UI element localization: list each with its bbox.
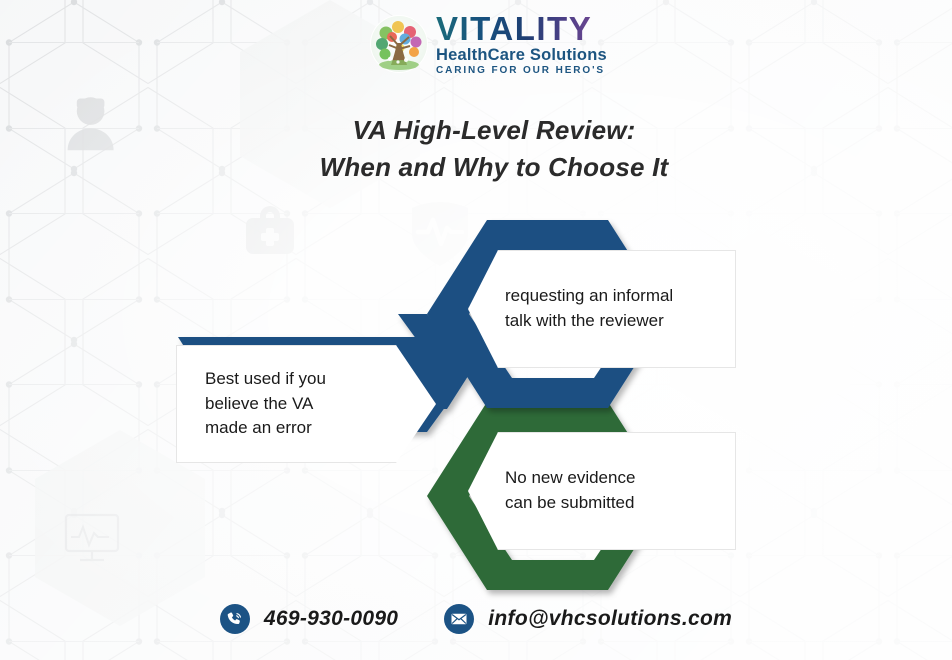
callout-left-line-1: Best used if you (205, 367, 326, 392)
callout-top-right: requesting an informal talk with the rev… (468, 250, 736, 368)
page-title: VA High-Level Review: When and Why to Ch… (0, 112, 952, 186)
infographic-canvas: VITALITY HealthCare Solutions CARING FOR… (0, 0, 952, 660)
heartbeat-icon (412, 202, 468, 266)
phone-icon (220, 604, 250, 634)
brand-tagline: HealthCare Solutions (436, 47, 607, 64)
callout-bottom-right-line-2: can be submitted (505, 491, 635, 516)
medical-bag-icon (246, 206, 294, 254)
brand-logo: VITALITY HealthCare Solutions CARING FOR… (370, 12, 607, 76)
footer-contact-bar: 469-930-0090 info@vhcsolutions.com (0, 604, 952, 634)
contact-phone[interactable]: 469-930-0090 (220, 604, 398, 634)
callout-bottom-right-line-1: No new evidence (505, 466, 635, 491)
brand-text: VITALITY HealthCare Solutions CARING FOR… (436, 12, 607, 76)
contact-email[interactable]: info@vhcsolutions.com (444, 604, 732, 634)
hexagon-diagram-arm (0, 0, 952, 660)
callout-bottom-right-text: No new evidence can be submitted (505, 466, 635, 515)
envelope-icon (444, 604, 474, 634)
brand-subtagline: CARING FOR OUR HERO'S (436, 66, 607, 76)
page-title-line-2: When and Why to Choose It (36, 149, 952, 186)
callout-top-right-line-2: talk with the reviewer (505, 309, 673, 334)
tree-of-life-icon (370, 15, 428, 73)
callout-bottom-right: No new evidence can be submitted (468, 432, 736, 550)
callout-top-right-text: requesting an informal talk with the rev… (505, 284, 673, 333)
page-title-line-1: VA High-Level Review: (36, 112, 952, 149)
callout-left-line-3: made an error (205, 416, 326, 441)
monitor-icon (66, 515, 118, 560)
background-hexagon-pattern (0, 0, 952, 660)
callout-left-text: Best used if you believe the VA made an … (205, 367, 326, 441)
phone-number: 469-930-0090 (264, 607, 398, 631)
hexagon-diagram (0, 0, 952, 660)
background-fade-overlay (0, 0, 952, 660)
callout-top-right-line-1: requesting an informal (505, 284, 673, 309)
callout-left-line-2: believe the VA (205, 392, 326, 417)
brand-wordmark: VITALITY (436, 12, 607, 45)
email-address: info@vhcsolutions.com (488, 607, 732, 631)
callout-left: Best used if you believe the VA made an … (176, 345, 436, 463)
